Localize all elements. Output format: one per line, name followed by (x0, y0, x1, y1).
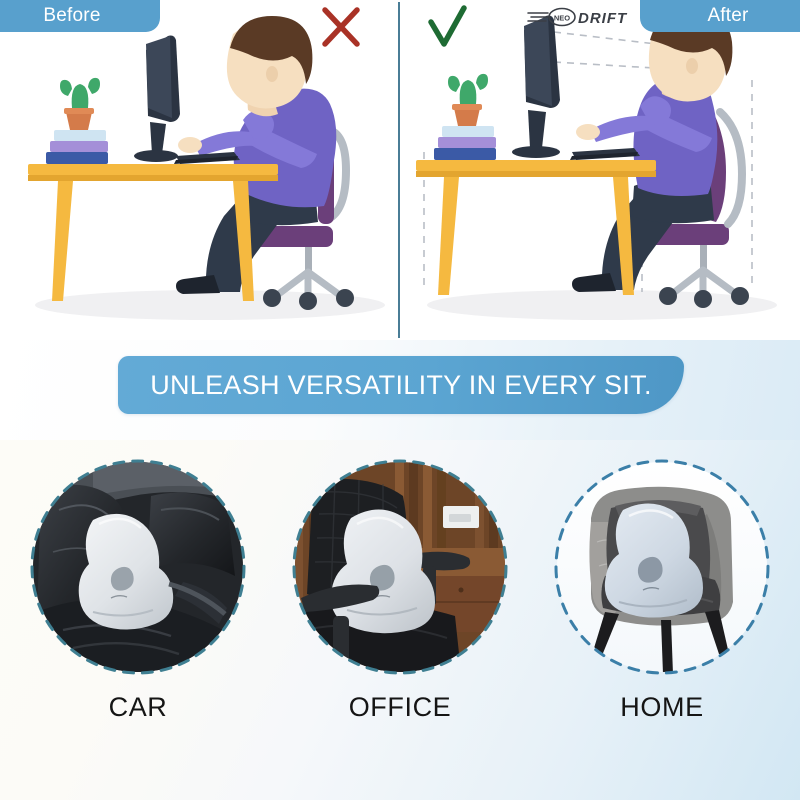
usecase-home-photo (557, 462, 767, 672)
before-badge: Before (0, 0, 160, 32)
books-and-cactus-after (434, 74, 496, 160)
after-illustration (402, 0, 800, 340)
usecase-office-image-wrap (289, 456, 511, 678)
usecase-section: CAR (0, 440, 800, 800)
check-icon (424, 4, 470, 50)
tagline-text: UNLEASH VERSATILITY IN EVERY SIT. (150, 370, 652, 401)
usecase-car-photo (33, 462, 243, 672)
comparison-section: Before (0, 0, 800, 340)
logo-drift-text: DRIFT (578, 10, 628, 27)
after-badge: After (640, 0, 800, 32)
usecase-office-photo (295, 462, 505, 672)
usecase-home-label: HOME (536, 692, 788, 723)
usecase-home: HOME (536, 456, 788, 723)
keyboard-after (570, 148, 640, 160)
keyboard-before (174, 152, 240, 164)
panel-divider (398, 2, 400, 338)
cross-icon (318, 4, 364, 50)
before-illustration (0, 0, 398, 340)
usecase-car: CAR (12, 456, 264, 723)
usecase-car-image-wrap (27, 456, 249, 678)
usecase-home-image-wrap (551, 456, 773, 678)
before-panel: Before (0, 0, 398, 340)
usecase-car-label: CAR (12, 692, 264, 723)
usecase-office-label: OFFICE (274, 692, 526, 723)
usecase-office: OFFICE (274, 456, 526, 723)
books-and-cactus (46, 78, 108, 164)
infographic-page: Before (0, 0, 800, 800)
neodrift-logo: NEO DRIFT (526, 6, 638, 30)
banner-zone: UNLEASH VERSATILITY IN EVERY SIT. (0, 340, 800, 440)
after-panel: After (402, 0, 800, 340)
monitor-before (134, 36, 180, 163)
logo-neo-text: NEO (554, 14, 570, 23)
monitor-after (512, 16, 560, 159)
tagline-banner: UNLEASH VERSATILITY IN EVERY SIT. (118, 356, 684, 414)
